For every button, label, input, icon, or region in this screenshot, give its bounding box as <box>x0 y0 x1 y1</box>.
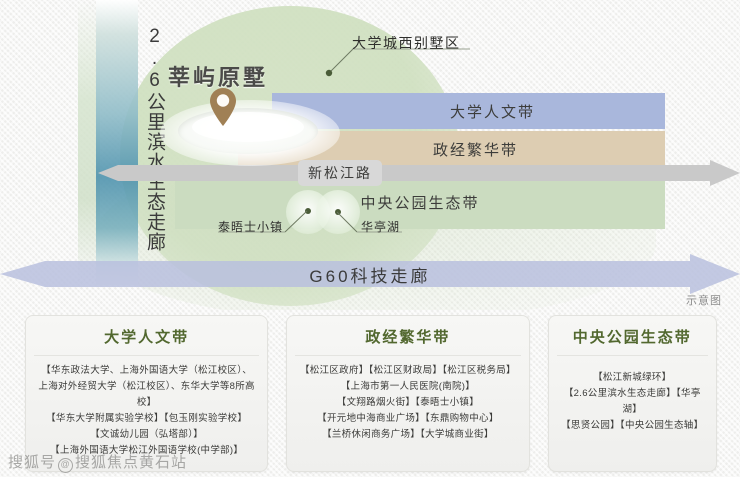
card-line: 【华东政法大学、上海外国语大学（松江校区）、 <box>34 363 259 379</box>
callout-thames-town: 泰晤士小镇 <box>218 218 283 235</box>
card-central-park: 中央公园生态带 【松江新城绿环】 【2.6公里滨水生态走廊】【华亭湖】 【思贤公… <box>548 315 717 472</box>
card-line: 【上海市第一人民医院(南院)】 <box>295 379 520 395</box>
info-cards: 大学人文带 【华东政法大学、上海外国语大学（松江校区）、 上海对外经贸大学（松江… <box>25 315 717 472</box>
card-university-culture: 大学人文带 【华东政法大学、上海外国语大学（松江校区）、 上海对外经贸大学（松江… <box>25 315 268 472</box>
sohu-watermark: 搜狐号@搜狐焦点黄石站 <box>8 451 187 473</box>
card-central-park-title: 中央公园生态带 <box>557 326 708 356</box>
g60-corridor-label: G60科技走廊 <box>0 253 740 295</box>
card-line: 【兰桥休闲商务广场】【大学城商业街】 <box>295 427 520 443</box>
sohu-logo-icon: @ <box>58 458 73 473</box>
card-line: 【松江新城绿环】 <box>557 370 708 386</box>
callout-huating-lake: 华亭湖 <box>361 218 400 235</box>
card-line: 【文翔路烟火街】【泰晤士小镇】 <box>295 395 520 411</box>
location-diagram: 2.6公里滨水生态走廊 中央公园生态带 政经繁华带 大学人文带 新松江路 莘屿原… <box>0 0 740 310</box>
card-line: 【松江区政府】【松江区财政局】【松江区税务局】 <box>295 363 520 379</box>
card-line: 【思贤公园】【中央公园生态轴】 <box>557 418 708 434</box>
card-line: 【2.6公里滨水生态走廊】【华亭湖】 <box>557 386 708 418</box>
legend-note: 示意图 <box>686 292 722 308</box>
card-line: 【文诚幼儿园（弘塔部）】 <box>34 427 259 443</box>
card-line: 【开元地中海商业广场】【东鼎购物中心】 <box>295 411 520 427</box>
card-line: 上海对外经贸大学（松江校区）、东华大学等8所高校】 <box>34 379 259 411</box>
card-politics-economy: 政经繁华带 【松江区政府】【松江区财政局】【松江区税务局】 【上海市第一人民医院… <box>286 315 529 472</box>
callout-university-west-villa: 大学城西别墅区 <box>352 33 461 53</box>
watermark-suffix: 搜狐焦点黄石站 <box>75 454 187 471</box>
card-university-culture-title: 大学人文带 <box>34 326 259 356</box>
card-politics-economy-title: 政经繁华带 <box>295 326 520 356</box>
watermark-prefix: 搜狐号 <box>8 454 56 471</box>
card-line: 【华东大学附属实验学校】【包玉刚实验学校】 <box>34 411 259 427</box>
